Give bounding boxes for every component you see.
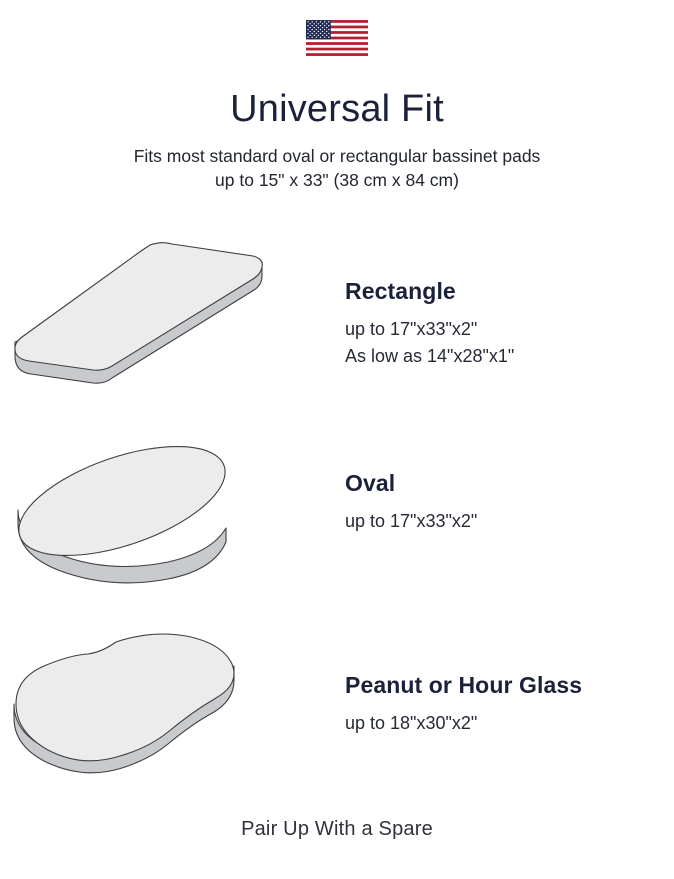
page-subtitle: Fits most standard oval or rectangular b… <box>0 144 674 192</box>
footer: Pair Up With a Spare <box>0 818 674 841</box>
us-flag-container <box>0 20 674 56</box>
peanut-art <box>0 622 345 802</box>
shape-spec-rectangle-2: As low as 14"x28"x1" <box>345 343 674 370</box>
header: Universal Fit Fits most standard oval or… <box>0 86 674 192</box>
shape-spec-rectangle-1: up to 17"x33"x2" <box>345 316 674 343</box>
shape-row-rectangle: Rectangle up to 17"x33"x2" As low as 14"… <box>0 232 674 407</box>
oval-mattress-icon <box>0 432 300 607</box>
shape-title-rectangle: Rectangle <box>345 276 674 306</box>
oval-art <box>0 432 345 607</box>
page-title: Universal Fit <box>0 86 674 132</box>
rectangle-mattress-icon <box>0 232 300 407</box>
shape-row-peanut: Peanut or Hour Glass up to 18"x30"x2" <box>0 622 674 802</box>
peanut-copy: Peanut or Hour Glass up to 18"x30"x2" <box>345 622 674 737</box>
rectangle-copy: Rectangle up to 17"x33"x2" As low as 14"… <box>345 232 674 370</box>
us-flag-icon <box>306 20 368 56</box>
subtitle-line-1: Fits most standard oval or rectangular b… <box>0 144 674 168</box>
shape-spec-oval-1: up to 17"x33"x2" <box>345 508 674 535</box>
oval-copy: Oval up to 17"x33"x2" <box>345 432 674 535</box>
shape-title-oval: Oval <box>345 468 674 498</box>
rectangle-art <box>0 232 345 407</box>
shape-row-oval: Oval up to 17"x33"x2" <box>0 432 674 607</box>
shape-title-peanut: Peanut or Hour Glass <box>345 670 674 700</box>
shape-spec-peanut-1: up to 18"x30"x2" <box>345 710 674 737</box>
footer-tagline: Pair Up With a Spare <box>0 818 674 841</box>
peanut-mattress-icon <box>0 622 300 802</box>
subtitle-line-2: up to 15" x 33" (38 cm x 84 cm) <box>0 168 674 192</box>
infographic-page: Universal Fit Fits most standard oval or… <box>0 0 674 879</box>
